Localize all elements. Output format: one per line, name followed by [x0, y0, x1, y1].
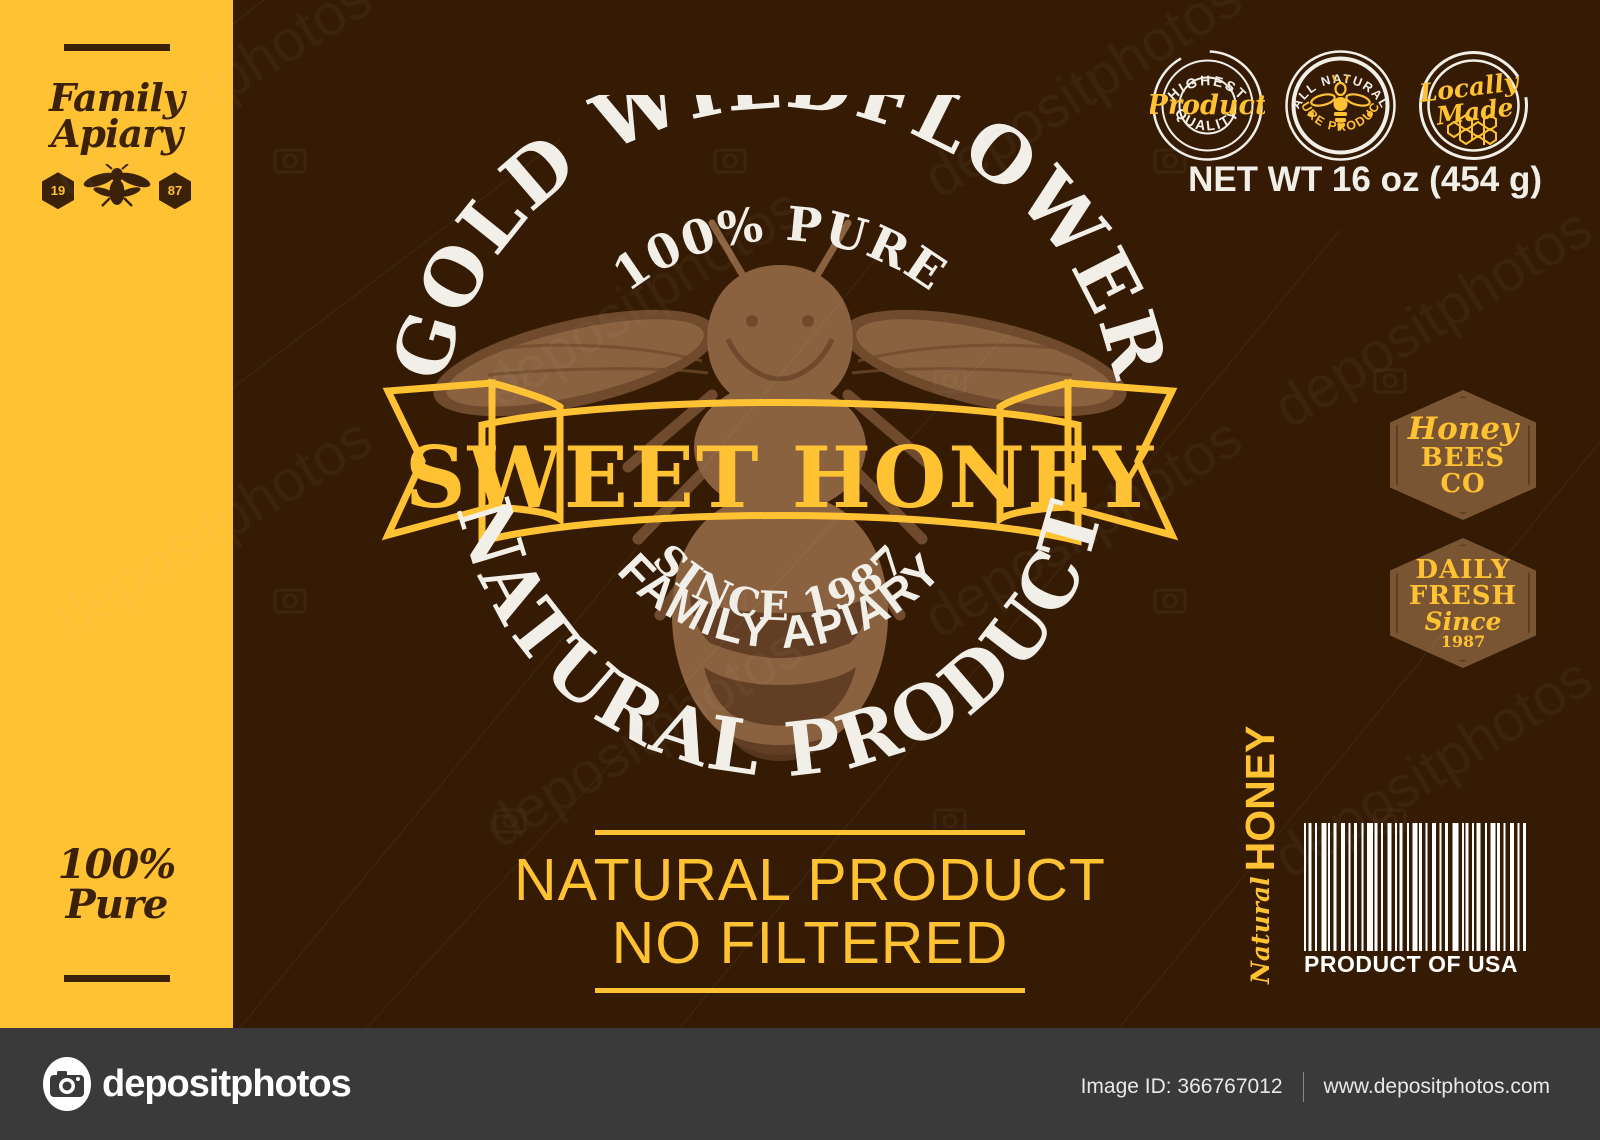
certification-badges: HIGHEST QUALITY Product — [1150, 48, 1550, 163]
left-yellow-panel: Family Apiary 19 — [0, 0, 233, 1028]
depositphotos-wordmark: depositphotos — [102, 1063, 351, 1106]
vertical-honey-bold: HONEY — [1237, 726, 1284, 872]
hex-badge-daily-fresh: DAILY FRESH Since 1987 — [1390, 538, 1536, 668]
camera-icon — [40, 1057, 94, 1111]
tagline-line1: NATURAL PRODUCT — [470, 849, 1150, 912]
depositphotos-logo: depositphotos — [40, 1058, 351, 1110]
badge-highest-product-quality: HIGHEST QUALITY Product — [1150, 48, 1265, 163]
footer-meta: Image ID: 366767012 www.depositphotos.co… — [1081, 1072, 1550, 1102]
hex-badge-group: Honey BEES CO DAILY FRESH Since 1987 — [1390, 390, 1540, 686]
depositphotos-footer: depositphotos Image ID: 366767012 www.de… — [0, 1028, 1600, 1140]
footer-divider — [1303, 1072, 1304, 1102]
panel-top-rule — [64, 44, 170, 51]
year-badge-left: 19 — [42, 172, 74, 209]
honey-label-artboard: Family Apiary 19 — [0, 0, 1600, 1028]
hex2-line1: DAILY — [1415, 557, 1510, 583]
hex-text: DAILY FRESH Since 1987 — [1390, 538, 1536, 668]
net-weight-text: NET WT 16 oz (454 g) — [1150, 160, 1550, 200]
hex1-line3: CO — [1440, 471, 1485, 497]
pure-line2: Pure — [0, 885, 233, 925]
screenshot-root: Family Apiary 19 — [0, 0, 1600, 1140]
barcode-block: Natural HONEY PRODUCT OF USA — [1222, 823, 1527, 983]
brand-name-line2: Apiary — [0, 116, 233, 152]
tagline-bottom-rule — [595, 988, 1025, 993]
hex-text: Honey BEES CO — [1390, 390, 1536, 520]
tagline-line2: NO FILTERED — [470, 912, 1150, 975]
svg-text:Product: Product — [1150, 90, 1265, 121]
vertical-honey-text: Natural HONEY — [1222, 823, 1300, 983]
family-apiary-brand-block: Family Apiary 19 — [0, 80, 233, 218]
badge-locally-made: Locally Made — [1416, 48, 1531, 163]
barcode-graphic — [1304, 823, 1527, 951]
tagline-block: NATURAL PRODUCT NO FILTERED — [470, 830, 1150, 993]
hex1-line2: BEES — [1421, 445, 1505, 471]
hex2-line2: FRESH — [1409, 583, 1517, 609]
website-url-text[interactable]: www.depositphotos.com — [1324, 1075, 1550, 1099]
image-id-text: Image ID: 366767012 — [1081, 1075, 1283, 1099]
pure-line1: 100% — [0, 845, 233, 885]
bee-icon — [80, 164, 154, 219]
hex2-line4: 1987 — [1441, 634, 1486, 650]
central-emblem: GOLD WILDFLOWER 100% PURE SWEET HONEY FA… — [360, 95, 1200, 815]
hex1-line1: Honey — [1408, 414, 1518, 445]
product-origin-text: PRODUCT OF USA — [1304, 951, 1527, 978]
year-badge-right: 87 — [159, 172, 191, 209]
hex-badge-honey-bees-co: Honey BEES CO — [1390, 390, 1536, 520]
badge-all-natural-pure-product: ALL NATURAL PURE PRODUCT — [1283, 48, 1398, 163]
hex2-line3: Since — [1425, 609, 1502, 634]
tagline-top-rule — [595, 830, 1025, 835]
vertical-natural-script: Natural — [1246, 876, 1275, 984]
hundred-percent-pure-block: 100% Pure — [0, 845, 233, 925]
brand-year-row: 19 — [0, 158, 233, 218]
panel-bottom-rule — [64, 975, 170, 982]
